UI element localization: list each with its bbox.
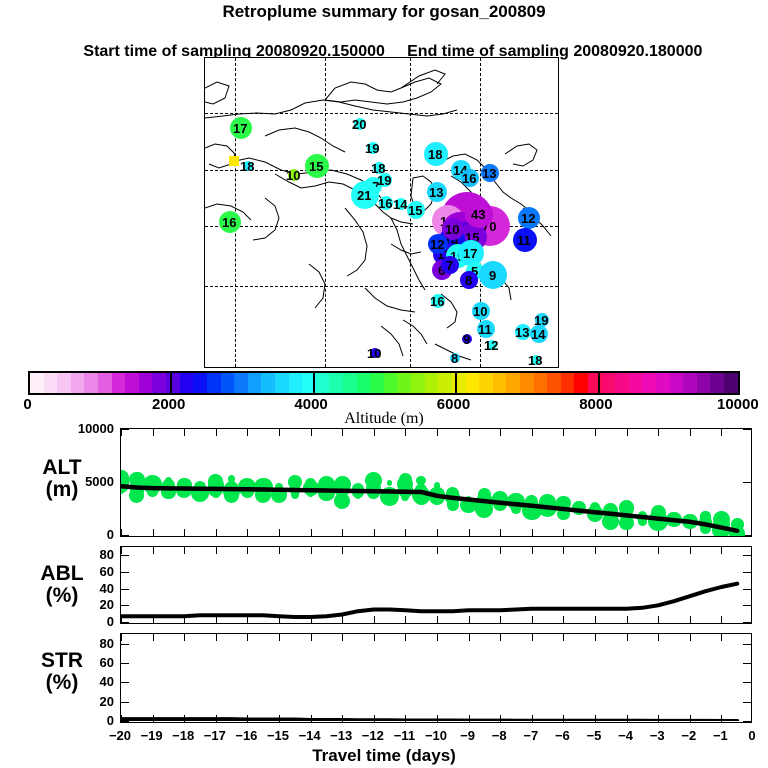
map-marker-label: 8 <box>465 274 472 287</box>
y-tick <box>743 622 751 623</box>
colorbar-segment <box>329 373 343 393</box>
colorbar-segment <box>493 373 507 393</box>
map-marker-label: 17 <box>233 122 247 135</box>
x-tick-label: −4 <box>610 729 642 742</box>
map-gridline <box>205 113 558 114</box>
colorbar-segment <box>221 373 235 393</box>
colorbar-segment <box>234 373 248 393</box>
x-tick-label: −9 <box>452 729 484 742</box>
map-marker-label: 19 <box>365 142 379 155</box>
x-tick-label: −17 <box>199 729 231 742</box>
map-marker-label: 13 <box>482 167 496 180</box>
x-tick-label: −6 <box>546 729 578 742</box>
map-marker-label: 9 <box>489 269 496 282</box>
map-marker-label: 16 <box>430 295 444 308</box>
map-marker <box>229 156 239 166</box>
map-gridline <box>325 58 326 367</box>
colorbar-segment <box>193 373 207 393</box>
colorbar-segment <box>57 373 71 393</box>
alt-chart[interactable] <box>120 428 752 537</box>
map-marker-label: 13 <box>515 326 529 339</box>
x-tick-label: −15 <box>262 729 294 742</box>
x-tick-label: −10 <box>420 729 452 742</box>
y-tick-label: 40 <box>52 675 114 688</box>
x-tick-label: −11 <box>388 729 420 742</box>
colorbar-segment <box>615 373 629 393</box>
colorbar-segment <box>30 373 44 393</box>
map-marker-label: 13 <box>429 186 443 199</box>
colorbar-segment <box>180 373 194 393</box>
colorbar-segment <box>152 373 166 393</box>
colorbar-segment <box>683 373 697 393</box>
x-tick-label: −18 <box>167 729 199 742</box>
map-marker-label: 16 <box>378 197 392 210</box>
colorbar-segment <box>384 373 398 393</box>
map-marker-label: 10 <box>445 223 459 236</box>
map-marker-label: 15 <box>408 204 422 217</box>
page-title: Retroplume summary for gosan_200809 <box>0 2 768 22</box>
map-marker-label: 8 <box>451 352 458 365</box>
colorbar-segment <box>84 373 98 393</box>
colorbar-segment <box>547 373 561 393</box>
map-marker-label: 16 <box>222 216 236 229</box>
y-tick-label: 5000 <box>52 475 114 488</box>
x-tick-label: −3 <box>641 729 673 742</box>
colorbar-segment <box>125 373 139 393</box>
map-marker-label: 16 <box>462 172 476 185</box>
colorbar-segment <box>289 373 303 393</box>
colorbar-segment <box>275 373 289 393</box>
colorbar-divider <box>170 371 172 395</box>
map-marker-label: 11 <box>478 323 492 336</box>
colorbar-segment <box>629 373 643 393</box>
x-tick-label: −12 <box>357 729 389 742</box>
colorbar-segment <box>411 373 425 393</box>
colorbar-segment <box>724 373 738 393</box>
colorbar-divider <box>313 371 315 395</box>
map-marker-label: 19 <box>377 174 391 187</box>
y-tick-label: 80 <box>52 548 114 561</box>
map-marker-label: 43 <box>471 208 485 221</box>
colorbar-axis-label: Altitude (m) <box>0 410 768 428</box>
x-tick-label: −8 <box>483 729 515 742</box>
colorbar-segment <box>112 373 126 393</box>
colorbar-segment <box>343 373 357 393</box>
colorbar-segment <box>139 373 153 393</box>
colorbar-segment <box>670 373 684 393</box>
colorbar-segment <box>642 373 656 393</box>
map-marker-label: 15 <box>309 160 323 173</box>
x-tick-label: −19 <box>136 729 168 742</box>
colorbar-segment <box>561 373 575 393</box>
map-marker-label: 9 <box>463 333 470 346</box>
colorbar-segment <box>261 373 275 393</box>
x-tick-label: −13 <box>325 729 357 742</box>
y-tick <box>743 721 751 722</box>
y-tick <box>121 721 129 722</box>
xaxis-title: Travel time (days) <box>0 746 768 766</box>
map-marker-label: 10 <box>286 169 300 182</box>
map-marker-label: 21 <box>357 189 371 202</box>
colorbar-segment <box>452 373 466 393</box>
colorbar-segment <box>656 373 670 393</box>
y-tick <box>121 622 129 623</box>
colorbar-segment <box>397 373 411 393</box>
map-gridline <box>205 286 558 287</box>
map-marker-label: 12 <box>430 238 444 251</box>
x-tick-label: −2 <box>673 729 705 742</box>
map-marker-label: 20 <box>352 118 366 131</box>
colorbar-segment <box>370 373 384 393</box>
colorbar-segment <box>166 373 180 393</box>
colorbar-segment <box>357 373 371 393</box>
colorbar-segment <box>44 373 58 393</box>
abl-chart[interactable] <box>120 546 752 624</box>
y-tick-label: 0 <box>52 615 114 628</box>
retroplume-map[interactable]: 1716151020191817211914161814161318131539… <box>204 57 559 368</box>
colorbar-segment <box>425 373 439 393</box>
x-tick-label: −5 <box>578 729 610 742</box>
map-marker-label: 10 <box>473 305 487 318</box>
colorbar-segment <box>479 373 493 393</box>
y-tick-label: 80 <box>52 637 114 650</box>
map-marker-label: 11 <box>517 234 531 247</box>
colorbar-segment <box>98 373 112 393</box>
map-marker-label: 10 <box>367 347 381 360</box>
colorbar-segment <box>466 373 480 393</box>
colorbar-segment <box>520 373 534 393</box>
x-tick-label: −14 <box>294 729 326 742</box>
colorbar-segment <box>574 373 588 393</box>
series-line <box>121 547 752 622</box>
map-marker-label: 17 <box>463 247 477 260</box>
colorbar-divider <box>598 371 600 395</box>
colorbar-segment <box>534 373 548 393</box>
y-tick-label: 0 <box>52 528 114 541</box>
x-tick-label: −7 <box>515 729 547 742</box>
x-tick-label: −20 <box>104 729 136 742</box>
y-tick-label: 10000 <box>52 422 114 435</box>
map-marker-label: 14 <box>531 328 545 341</box>
map-marker-label: 7 <box>446 259 453 272</box>
y-tick-label: 0 <box>52 714 114 727</box>
y-tick <box>121 535 129 536</box>
y-tick-label: 20 <box>52 695 114 708</box>
y-tick-label: 60 <box>52 565 114 578</box>
colorbar-segment <box>71 373 85 393</box>
map-marker-label: 14 <box>393 198 407 211</box>
x-tick-label: −16 <box>230 729 262 742</box>
map-marker-label: 18 <box>240 160 254 173</box>
map-marker-label: 18 <box>428 148 442 161</box>
colorbar-segment <box>602 373 616 393</box>
map-marker-label: 12 <box>484 339 498 352</box>
colorbar-segment <box>316 373 330 393</box>
y-tick-label: 60 <box>52 656 114 669</box>
y-tick-label: 20 <box>52 598 114 611</box>
colorbar-divider <box>455 371 457 395</box>
colorbar-segment <box>697 373 711 393</box>
y-tick-label: 40 <box>52 582 114 595</box>
x-tick-label: 0 <box>736 729 768 742</box>
x-tick-label: −1 <box>704 729 736 742</box>
colorbar-segment <box>248 373 262 393</box>
series-line <box>121 634 752 721</box>
map-marker-label: 12 <box>521 212 535 225</box>
colorbar-segment <box>710 373 724 393</box>
str-chart[interactable] <box>120 633 752 723</box>
map-marker-label: 18 <box>528 354 542 367</box>
colorbar-segment <box>207 373 221 393</box>
colorbar-segment <box>438 373 452 393</box>
colorbar-segment <box>506 373 520 393</box>
altitude-colorbar <box>28 371 740 395</box>
series-line <box>121 429 752 535</box>
